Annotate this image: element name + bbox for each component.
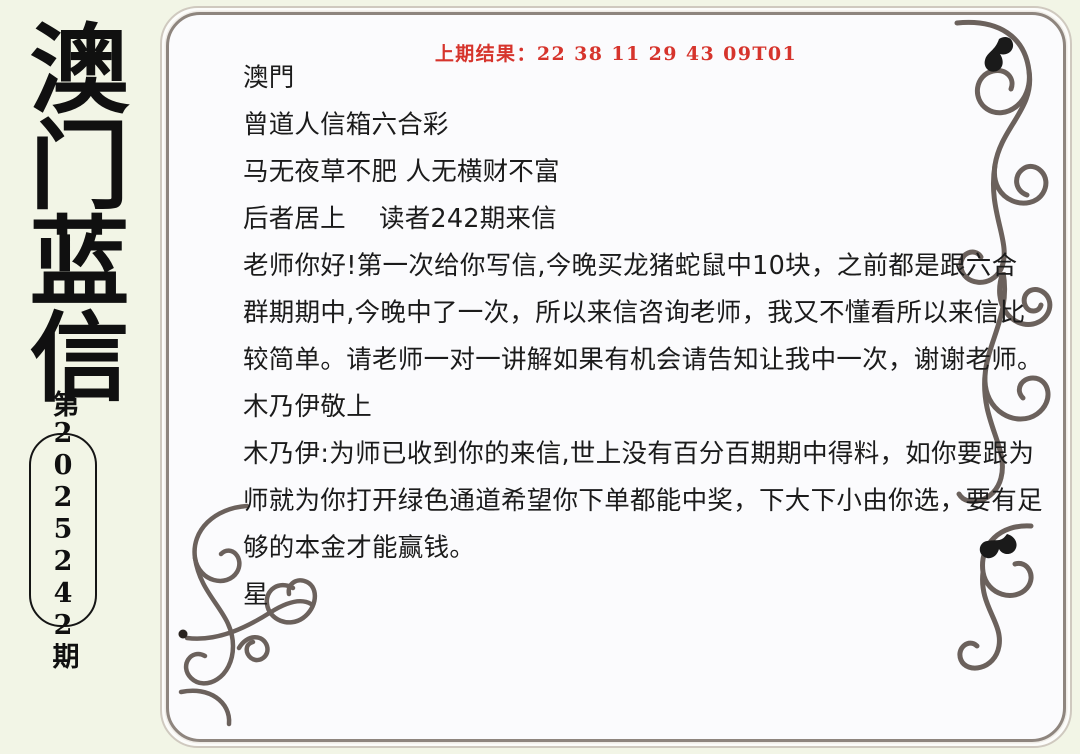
letter-line-proverb: 马无夜草不肥 人无横财不富: [243, 149, 1043, 196]
title-char-3: 蓝: [29, 214, 129, 310]
publication-title: 澳 门 蓝 信: [0, 22, 158, 406]
title-char-2: 门: [29, 118, 129, 214]
letter-paragraph-reader: 老师你好!第一次给你写信,今晚买龙猪蛇鼠中10块，之前都是跟六合群期期中,今晚中…: [243, 243, 1043, 431]
letter-signature: 星: [243, 572, 1043, 619]
letter-line-issue: 后者居上 读者242期来信: [243, 196, 1043, 243]
title-char-4: 信: [29, 310, 129, 406]
period-badge-label: 第2025242期: [50, 390, 77, 670]
title-char-1: 澳: [29, 22, 129, 118]
letter-line-region: 澳門: [243, 55, 1043, 102]
poster-canvas: 澳 门 蓝 信 第2025242期: [0, 0, 1080, 754]
letter-paper: 上期结果：22 38 11 29 43 09T01 澳門 曾道人信箱六合彩 马无…: [171, 17, 1061, 737]
letter-body: 澳門 曾道人信箱六合彩 马无夜草不肥 人无横财不富 后者居上 读者242期来信 …: [243, 55, 1043, 619]
masthead: 澳 门 蓝 信 第2025242期: [0, 0, 158, 754]
letter-line-mailbox: 曾道人信箱六合彩: [243, 102, 1043, 149]
letter-paragraph-reply: 木乃伊:为师已收到你的来信,世上没有百分百期期中得料，如你要跟为师就为你打开绿色…: [243, 431, 1043, 572]
period-badge: 第2025242期: [29, 433, 97, 627]
